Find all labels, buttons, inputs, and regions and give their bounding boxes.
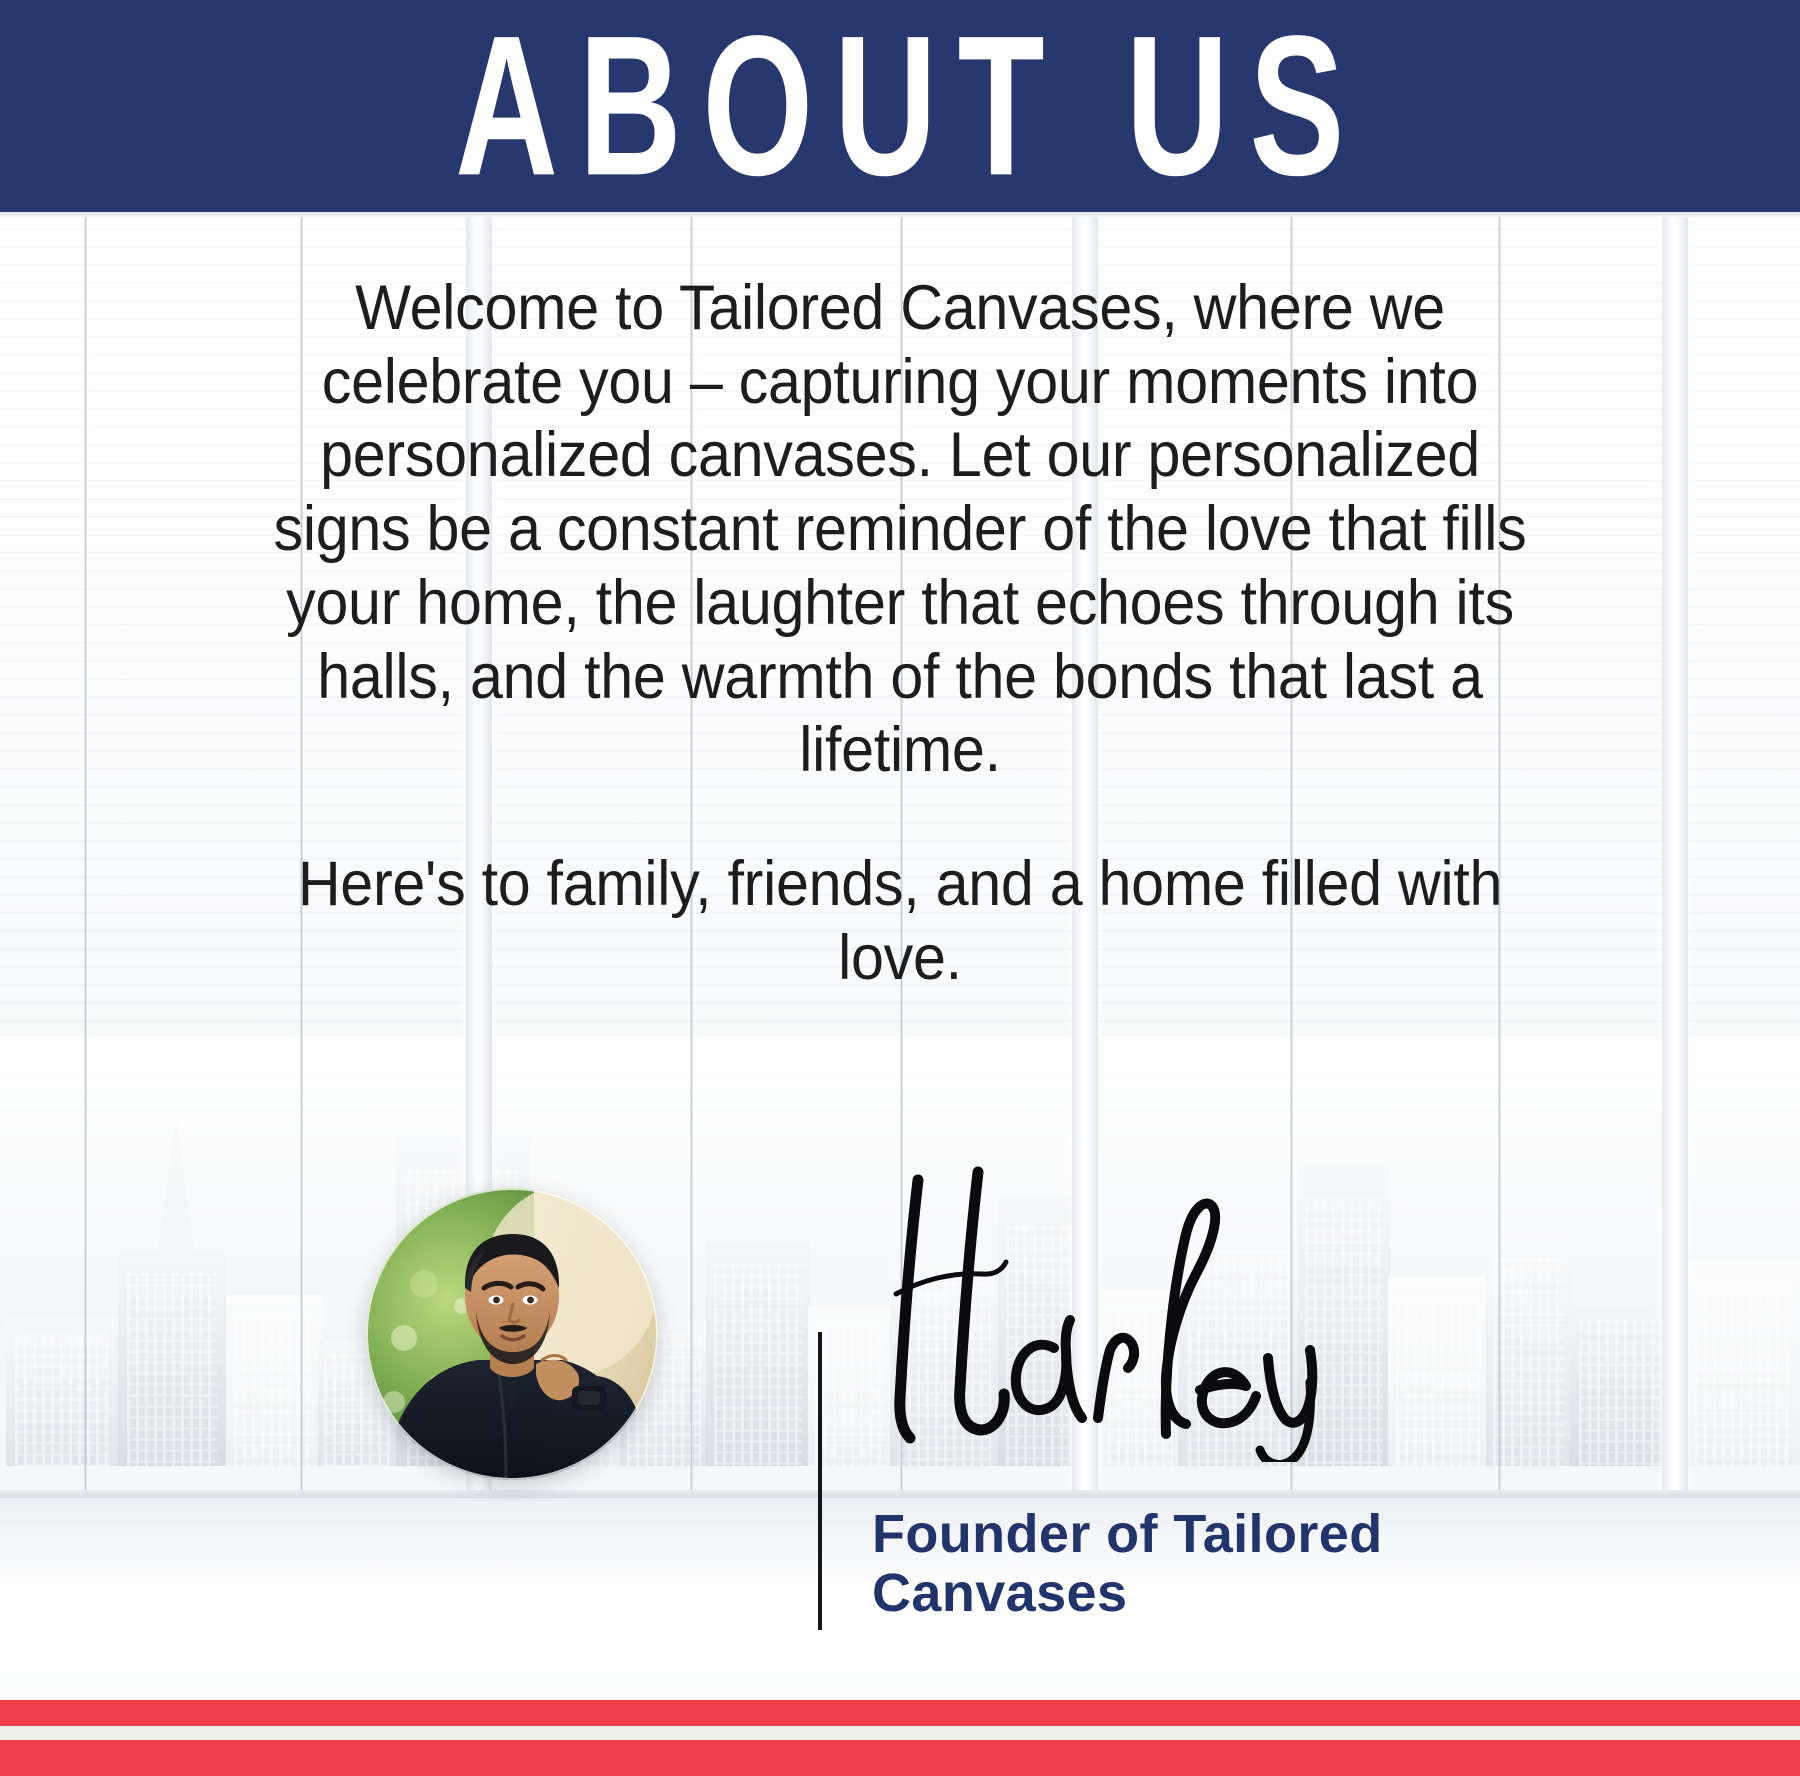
signature-divider — [818, 1332, 822, 1630]
about-paragraph-1: Welcome to Tailored Canvases, where we c… — [251, 272, 1548, 788]
footer-bar-bottom — [0, 1740, 1800, 1776]
footer-bar-gap — [0, 1726, 1800, 1740]
header-underline — [0, 212, 1800, 217]
page-title: ABOUT US — [435, 6, 1366, 205]
about-paragraph-2: Here's to family, friends, and a home fi… — [251, 848, 1548, 995]
about-copy: Welcome to Tailored Canvases, where we c… — [54, 272, 1746, 995]
founder-title-line-1: Founder of Tailored — [872, 1505, 1492, 1564]
footer-bar-top — [0, 1700, 1800, 1726]
paragraph-spacer — [251, 788, 1548, 848]
founder-title-line-2: Canvases — [872, 1564, 1492, 1623]
founder-signature — [860, 1162, 1420, 1462]
page-header: ABOUT US — [0, 0, 1800, 212]
about-us-page: ABOUT US Welcome to Tailored Canvases, w… — [0, 0, 1800, 1776]
founder-title: Founder of Tailored Canvases — [872, 1505, 1492, 1624]
avatar — [366, 1188, 658, 1480]
